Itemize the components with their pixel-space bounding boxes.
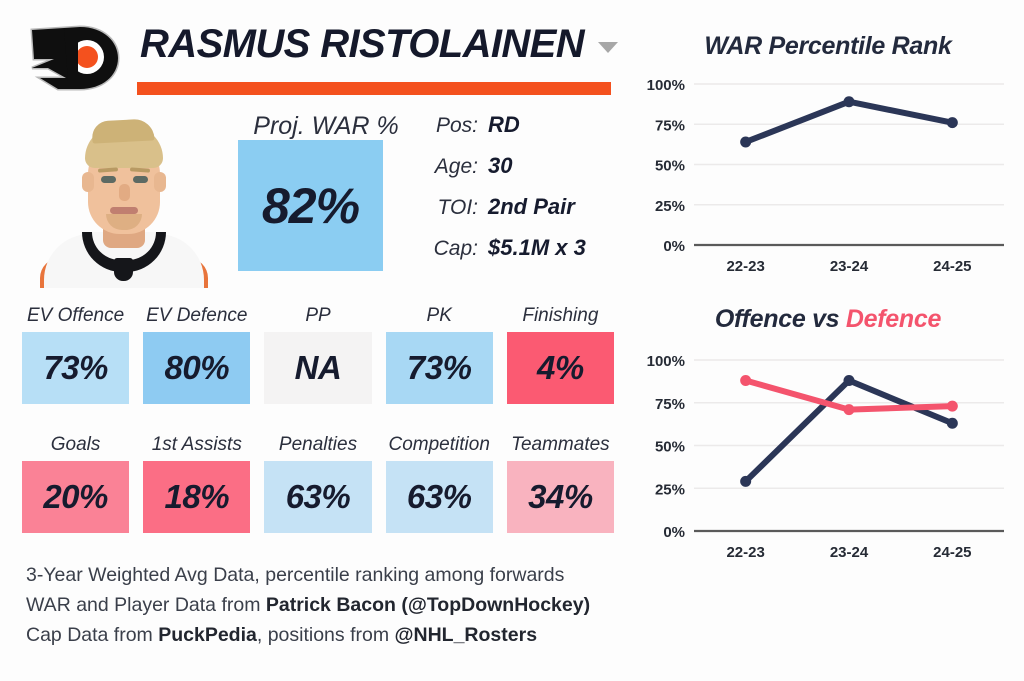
y-tick-label: 50%	[655, 158, 685, 175]
x-tick-label: 24-25	[933, 258, 971, 275]
stat-label-pk: PK	[427, 305, 452, 327]
nose	[119, 184, 130, 201]
stat-cell-teammates: Teammates 34%	[507, 434, 614, 533]
y-tick-label: 100%	[647, 77, 685, 94]
info-key-pos: Pos:	[420, 114, 488, 138]
page-title: RASMUS RISTOLAINEN	[140, 22, 584, 67]
stat-cell-goals: Goals 20%	[22, 434, 129, 533]
ear-right	[154, 172, 166, 192]
x-tick-label: 23-24	[830, 544, 869, 561]
stat-cell-ev-defence: EV Defence 80%	[143, 305, 250, 404]
ear-left	[82, 172, 94, 192]
stat-box-finishing: 4%	[507, 332, 614, 404]
stat-cell-pk: PK 73%	[386, 305, 493, 404]
footer-line-2: WAR and Player Data from Patrick Bacon (…	[26, 590, 626, 620]
proj-war-label: Proj. WAR %	[228, 112, 424, 141]
stat-value-teammates: 34%	[528, 478, 593, 516]
info-value-pos: RD	[488, 112, 520, 138]
x-tick-label: 22-23	[726, 544, 764, 561]
stat-box-ev-offence: 73%	[22, 332, 129, 404]
footer-line-3: Cap Data from PuckPedia, positions from …	[26, 620, 626, 650]
chart-title-offence-vs-defence: Offence vs Defence	[632, 305, 1024, 334]
stat-label-teammates: Teammates	[511, 434, 610, 456]
footer-line-3-source-1: PuckPedia	[158, 624, 257, 646]
stat-value-pp: NA	[295, 349, 342, 387]
info-row-cap: Cap: $5.1M x 3	[420, 235, 625, 276]
stat-value-ev-offence: 73%	[43, 349, 108, 387]
stat-label-first-assists: 1st Assists	[152, 434, 242, 456]
stat-value-competition: 63%	[407, 478, 472, 516]
x-tick-label: 22-23	[726, 258, 764, 275]
player-stat-card: RASMUS RISTOLAINEN Proj. WAR %	[0, 0, 1024, 681]
stat-label-finishing: Finishing	[522, 305, 598, 327]
data-point	[844, 375, 855, 386]
info-value-age: 30	[488, 153, 512, 179]
data-point	[740, 476, 751, 487]
footer-credits: 3-Year Weighted Avg Data, percentile ran…	[26, 560, 626, 650]
stat-cell-finishing: Finishing 4%	[507, 305, 614, 404]
data-point	[740, 136, 751, 147]
stat-label-competition: Competition	[389, 434, 490, 456]
stat-box-competition: 63%	[386, 461, 493, 533]
stat-label-ev-defence: EV Defence	[146, 305, 247, 327]
stat-cell-ev-offence: EV Offence 73%	[22, 305, 129, 404]
stat-label-ev-offence: EV Offence	[27, 305, 124, 327]
data-point	[844, 404, 855, 415]
series-line-offence	[746, 381, 953, 482]
stat-value-ev-defence: 80%	[165, 349, 230, 387]
footer-line-3-prefix: Cap Data from	[26, 624, 158, 646]
stat-value-goals: 20%	[43, 478, 108, 516]
stat-label-pp: PP	[305, 305, 330, 327]
y-tick-label: 50%	[655, 439, 685, 456]
left-panel: RASMUS RISTOLAINEN Proj. WAR %	[0, 0, 632, 681]
stat-cell-pp: PP NA	[264, 305, 371, 404]
stat-cell-competition: Competition 63%	[386, 434, 493, 533]
footer-line-2-prefix: WAR and Player Data from	[26, 594, 266, 616]
chart-title-defence: Defence	[846, 305, 941, 333]
player-info-list: Pos: RD Age: 30 TOI: 2nd Pair Cap: $5.1M…	[420, 112, 625, 276]
x-tick-label: 23-24	[830, 258, 869, 275]
info-key-age: Age:	[420, 155, 488, 179]
data-point	[844, 96, 855, 107]
chart-war-percentile-rank: 0%25%50%75%100%22-2323-2424-25	[632, 72, 1024, 287]
right-panel: WAR Percentile Rank 0%25%50%75%100%22-23…	[632, 0, 1024, 681]
stat-value-pk: 73%	[407, 349, 472, 387]
eye-right	[133, 176, 148, 183]
stat-cell-first-assists: 1st Assists 18%	[143, 434, 250, 533]
stat-box-pk: 73%	[386, 332, 493, 404]
stat-value-penalties: 63%	[286, 478, 351, 516]
y-tick-label: 0%	[663, 238, 685, 255]
team-logo-flyers	[18, 14, 128, 102]
eye-left	[101, 176, 116, 183]
info-value-cap: $5.1M x 3	[488, 235, 586, 261]
y-tick-label: 75%	[655, 396, 685, 413]
data-point	[947, 117, 958, 128]
x-tick-label: 24-25	[933, 544, 971, 561]
footer-line-2-source: Patrick Bacon (@TopDownHockey)	[266, 594, 590, 616]
info-key-cap: Cap:	[420, 237, 488, 261]
footer-line-3-source-2: @NHL_Rosters	[395, 624, 538, 646]
y-tick-label: 25%	[655, 481, 685, 498]
stat-label-goals: Goals	[51, 434, 101, 456]
stat-box-teammates: 34%	[507, 461, 614, 533]
data-point	[740, 375, 751, 386]
stat-box-penalties: 63%	[264, 461, 371, 533]
nhl-shield-icon	[114, 258, 133, 281]
accent-bar	[137, 82, 611, 95]
y-tick-label: 25%	[655, 198, 685, 215]
proj-war-box: 82%	[238, 140, 383, 271]
y-tick-label: 0%	[663, 524, 685, 541]
stat-label-penalties: Penalties	[279, 434, 357, 456]
chart-offence-vs-defence: 0%25%50%75%100%22-2323-2424-25	[632, 348, 1024, 583]
footer-line-3-mid: , positions from	[257, 624, 395, 646]
stat-box-pp: NA	[264, 332, 371, 404]
info-key-toi: TOI:	[420, 196, 488, 220]
data-point	[947, 418, 958, 429]
proj-war-value: 82%	[262, 177, 359, 235]
stat-box-goals: 20%	[22, 461, 129, 533]
series-line-war-percentile	[746, 102, 953, 142]
mouth	[110, 207, 138, 214]
stat-cell-penalties: Penalties 63%	[264, 434, 371, 533]
stat-grid-row-2: Goals 20% 1st Assists 18% Penalties 63% …	[22, 434, 614, 533]
y-tick-label: 100%	[647, 353, 685, 370]
chart-title-war-percentile: WAR Percentile Rank	[632, 32, 1024, 61]
info-value-toi: 2nd Pair	[488, 194, 575, 220]
stat-value-finishing: 4%	[537, 349, 584, 387]
hair-spike	[91, 118, 154, 143]
stat-value-first-assists: 18%	[165, 478, 230, 516]
chart-title-offence: Offence vs	[715, 305, 846, 333]
y-tick-label: 75%	[655, 117, 685, 134]
chevron-down-icon[interactable]	[598, 42, 618, 53]
footer-line-1: 3-Year Weighted Avg Data, percentile ran…	[26, 560, 626, 590]
player-headshot	[30, 108, 218, 288]
info-row-toi: TOI: 2nd Pair	[420, 194, 625, 235]
stat-box-ev-defence: 80%	[143, 332, 250, 404]
stat-grid-row-1: EV Offence 73% EV Defence 80% PP NA PK	[22, 305, 614, 404]
stat-box-first-assists: 18%	[143, 461, 250, 533]
data-point	[947, 401, 958, 412]
info-row-age: Age: 30	[420, 153, 625, 194]
info-row-pos: Pos: RD	[420, 112, 625, 153]
